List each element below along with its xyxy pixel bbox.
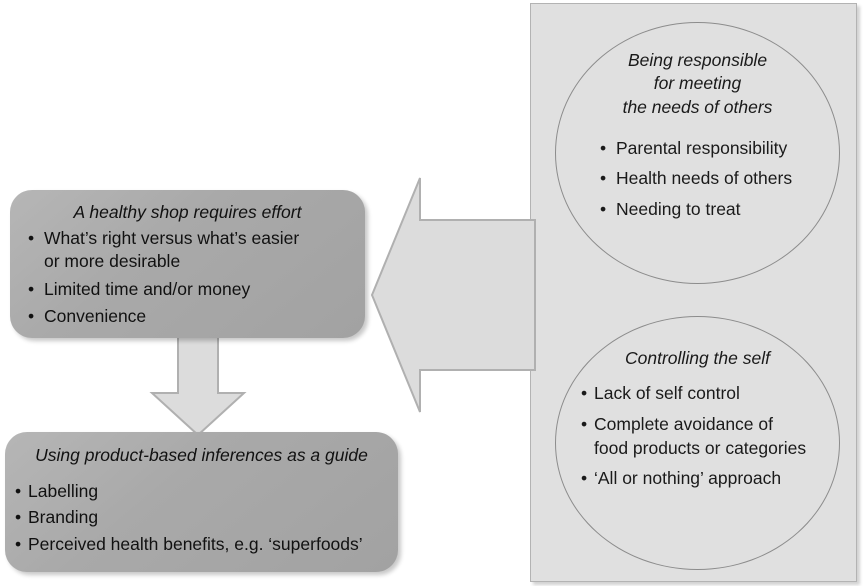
list-item: Health needs of others [600, 167, 839, 191]
list-item: Complete avoidance of food products or c… [581, 413, 839, 460]
list-item-text: Perceived health benefits, e.g. ‘superfo… [28, 534, 363, 554]
list-item-text: What’s right versus what’s easier [44, 228, 299, 248]
list-item-text: Limited time and/or money [44, 279, 250, 299]
box-bullet-list: What’s right versus what’s easier or mor… [24, 227, 351, 328]
theme-box-healthy-shop-effort: A healthy shop requires effort What’s ri… [10, 190, 365, 338]
list-item-text: Convenience [44, 306, 146, 326]
list-item-continuation: or more desirable [44, 250, 351, 273]
arrow-left-shape [372, 178, 535, 412]
theme-circle-responsibility: Being responsible for meeting the needs … [555, 22, 840, 284]
list-item: Needing to treat [600, 198, 839, 222]
box-title: A healthy shop requires effort [24, 202, 351, 223]
circle-title: Being responsible for meeting the needs … [556, 49, 839, 119]
theme-circle-self-control: Controlling the self Lack of self contro… [555, 316, 840, 570]
diagram-canvas: Being responsible for meeting the needs … [0, 0, 867, 586]
list-item: Parental responsibility [600, 137, 839, 161]
list-item-text: Parental responsibility [616, 138, 787, 158]
arrow-left [360, 170, 550, 410]
circle-content: Controlling the self Lack of self contro… [556, 317, 839, 498]
list-item-text: Labelling [28, 481, 98, 501]
box-title: Using product-based inferences as a guid… [15, 445, 388, 466]
list-item: What’s right versus what’s easier or mor… [26, 227, 351, 274]
theme-box-product-inferences: Using product-based inferences as a guid… [5, 432, 398, 572]
list-item: ‘All or nothing’ approach [581, 467, 839, 491]
arrow-down-shape [152, 331, 244, 435]
circle-bullet-list: Lack of self control Complete avoidance … [556, 382, 839, 491]
circle-bullet-list: Parental responsibility Health needs of … [556, 137, 839, 222]
list-item-text: Health needs of others [616, 168, 792, 188]
list-item: Labelling [15, 480, 388, 503]
circle-title: Controlling the self [556, 347, 839, 370]
list-item: Lack of self control [581, 382, 839, 406]
list-item-text: Complete avoidance of [594, 414, 773, 434]
circle-content: Being responsible for meeting the needs … [556, 23, 839, 229]
list-item-text: ‘All or nothing’ approach [594, 468, 781, 488]
list-item: Limited time and/or money [26, 278, 351, 301]
list-item-text: Branding [28, 507, 98, 527]
arrow-down [140, 335, 255, 440]
box-bullet-list: Labelling Branding Perceived health bene… [15, 480, 388, 556]
list-item: Branding [15, 506, 388, 529]
list-item: Convenience [26, 305, 351, 328]
list-item: Perceived health benefits, e.g. ‘superfo… [15, 533, 388, 556]
list-item-text: Lack of self control [594, 383, 740, 403]
list-item-text: Needing to treat [616, 199, 741, 219]
list-item-continuation: food products or categories [594, 437, 839, 461]
